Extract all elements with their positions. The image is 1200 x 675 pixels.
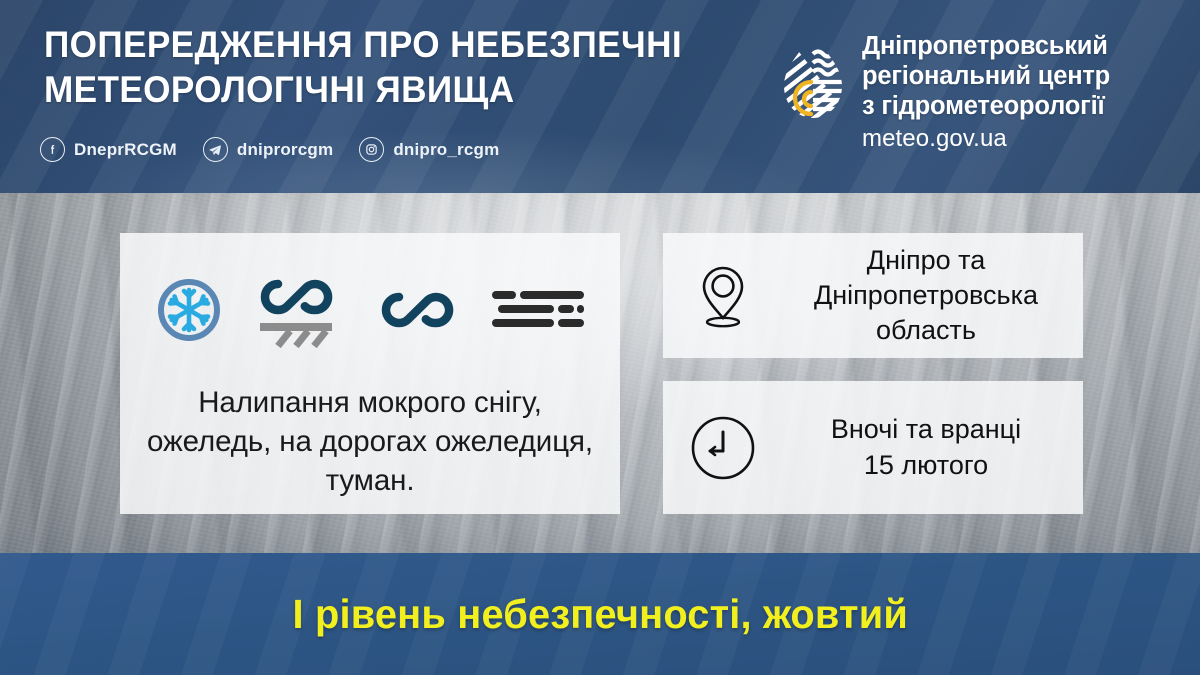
facebook-icon bbox=[40, 137, 65, 162]
social-handle-facebook: DneprRCGM bbox=[74, 140, 177, 160]
social-link-instagram[interactable]: dnipro_rcgm bbox=[359, 137, 499, 162]
time-line-1: Вночі та вранці bbox=[831, 414, 1021, 444]
organization-name-line-2: регіональний центр bbox=[862, 62, 1110, 92]
location-line-1: Дніпро та bbox=[867, 245, 985, 275]
weather-phenomena-icons bbox=[120, 269, 620, 355]
organization-name-line-1: Дніпропетровський bbox=[862, 32, 1110, 62]
page-title-line-2: МЕТЕОРОЛОГІЧНІ ЯВИЩА bbox=[44, 67, 728, 112]
social-links: DneprRCGM dniprorcgm d bbox=[40, 137, 499, 162]
location-text: Дніпро та Дніпропетровська область bbox=[783, 243, 1083, 348]
fog-icon bbox=[490, 287, 586, 338]
clock-icon bbox=[663, 413, 783, 483]
organization-name-line-3: з гідрометеорології bbox=[862, 92, 1110, 122]
time-text: Вночі та вранці 15 лютого bbox=[783, 412, 1083, 482]
social-link-telegram[interactable]: dniprorcgm bbox=[203, 137, 333, 162]
organization-website[interactable]: meteo.gov.ua bbox=[862, 121, 1110, 157]
danger-level-banner: І рівень небезпечності, жовтий bbox=[0, 553, 1200, 675]
social-link-facebook[interactable]: DneprRCGM bbox=[40, 137, 177, 162]
organization-name: Дніпропетровський регіональний центр з г… bbox=[862, 32, 1110, 157]
glaze-ice-icon bbox=[369, 281, 465, 344]
header-bar: ПОПЕРЕДЖЕННЯ ПРО НЕБЕЗПЕЧНІ МЕТЕОРОЛОГІЧ… bbox=[0, 0, 1200, 193]
location-card: Дніпро та Дніпропетровська область bbox=[663, 233, 1083, 358]
glaze-ice-on-roads-icon bbox=[248, 268, 344, 357]
hydrometeorology-leaf-logo-icon bbox=[780, 32, 846, 124]
organization-logo: Дніпропетровський регіональний центр з г… bbox=[780, 32, 1110, 157]
weather-warning-poster: ПОПЕРЕДЖЕННЯ ПРО НЕБЕЗПЕЧНІ МЕТЕОРОЛОГІЧ… bbox=[0, 0, 1200, 675]
instagram-icon bbox=[359, 137, 384, 162]
map-pin-icon bbox=[663, 263, 783, 329]
danger-level-text: І рівень небезпечності, жовтий bbox=[292, 591, 907, 638]
snowflake-icon bbox=[155, 276, 223, 349]
warning-description: Налипання мокрого снігу, ожеледь, на дор… bbox=[142, 383, 598, 501]
page-title: ПОПЕРЕДЖЕННЯ ПРО НЕБЕЗПЕЧНІ МЕТЕОРОЛОГІЧ… bbox=[44, 22, 728, 112]
telegram-icon bbox=[203, 137, 228, 162]
time-card: Вночі та вранці 15 лютого bbox=[663, 381, 1083, 514]
time-line-2: 15 лютого bbox=[864, 450, 988, 480]
social-handle-instagram: dnipro_rcgm bbox=[393, 140, 499, 160]
warning-card: Налипання мокрого снігу, ожеледь, на дор… bbox=[120, 233, 620, 514]
page-title-line-1: ПОПЕРЕДЖЕННЯ ПРО НЕБЕЗПЕЧНІ bbox=[44, 22, 728, 67]
social-handle-telegram: dniprorcgm bbox=[237, 140, 333, 160]
location-line-2: Дніпропетровська область bbox=[814, 280, 1038, 345]
